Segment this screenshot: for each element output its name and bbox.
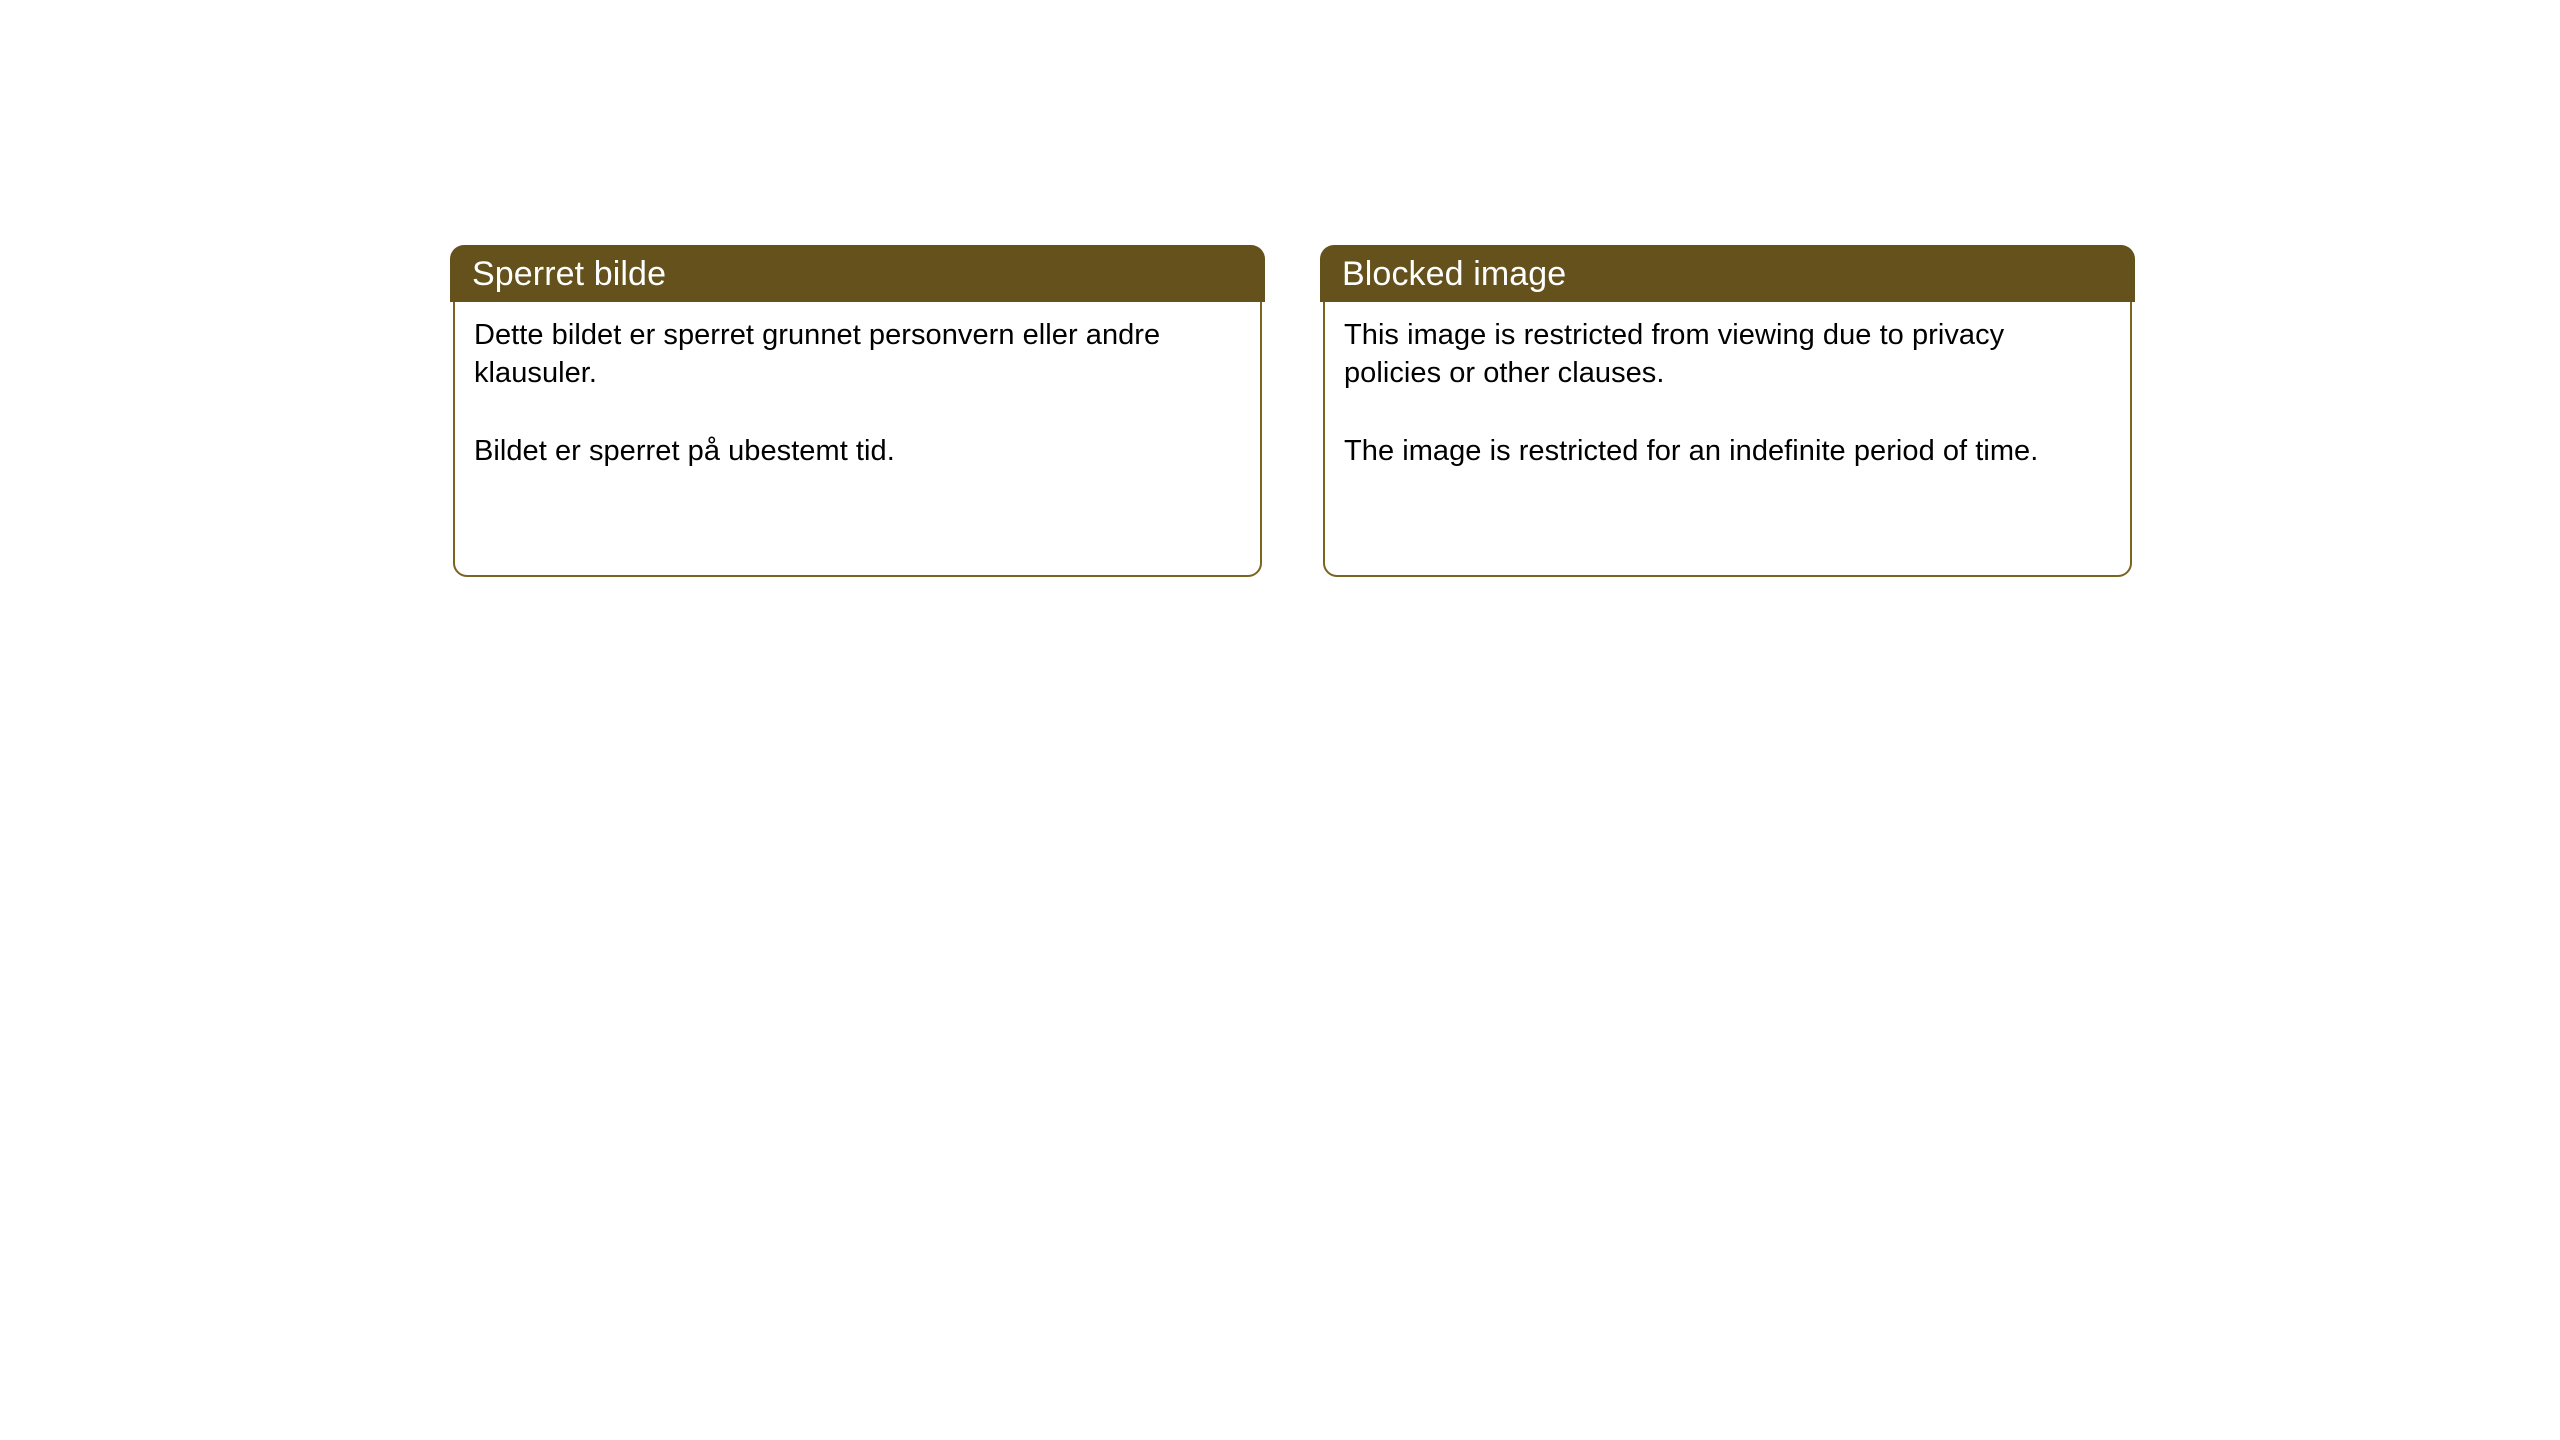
panel-content: This image is restricted from viewing du… bbox=[1323, 302, 2132, 470]
blocked-image-notice-panel-norwegian: Sperret bilde Dette bildet er sperret gr… bbox=[450, 245, 1265, 577]
panel-title: Sperret bilde bbox=[450, 257, 666, 291]
panel-content: Dette bildet er sperret grunnet personve… bbox=[453, 302, 1262, 470]
panel-paragraph-secondary: Bildet er sperret på ubestemt tid. bbox=[474, 432, 1238, 470]
panel-paragraph-secondary: The image is restricted for an indefinit… bbox=[1344, 432, 2108, 470]
panel-header: Blocked image bbox=[1320, 245, 2135, 302]
panel-title: Blocked image bbox=[1320, 257, 1566, 291]
panel-paragraph-primary: Dette bildet er sperret grunnet personve… bbox=[474, 316, 1238, 392]
blocked-image-notice-panel-english: Blocked image This image is restricted f… bbox=[1320, 245, 2135, 577]
panel-header: Sperret bilde bbox=[450, 245, 1265, 302]
page-canvas: Sperret bilde Dette bildet er sperret gr… bbox=[0, 0, 2560, 1440]
panel-paragraph-primary: This image is restricted from viewing du… bbox=[1344, 316, 2108, 392]
